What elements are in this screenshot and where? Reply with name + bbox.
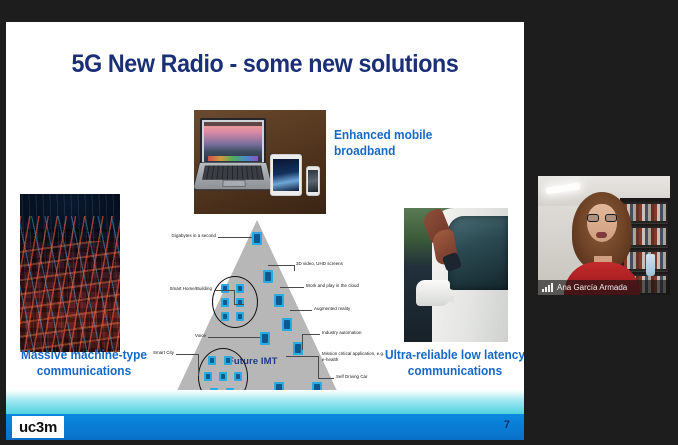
leader-line-gigabytes xyxy=(218,237,252,238)
leader-line-mission-critical-v xyxy=(318,356,319,378)
pyramid-label-augmented-reality: Augmented reality xyxy=(314,306,350,312)
smart-home-cluster-ring xyxy=(212,276,258,328)
icon-tile-city-2 xyxy=(224,356,232,365)
leader-line-3d-video xyxy=(268,265,294,266)
car-side-mirror xyxy=(416,280,450,306)
icon-tile-3d-video xyxy=(263,270,273,283)
icon-tile-city-4 xyxy=(219,372,227,381)
shelf-row-3 xyxy=(622,250,668,272)
page-title: 5G New Radio - some new solutions xyxy=(24,50,506,79)
signal-bars-icon xyxy=(542,283,553,292)
books-row-3 xyxy=(624,252,666,269)
leader-line-smart-city xyxy=(176,354,198,355)
icon-tile-gigabytes xyxy=(252,232,262,245)
laptop-base xyxy=(194,162,274,190)
laptop-menubar xyxy=(204,122,262,126)
laptop-dock xyxy=(208,156,258,161)
leader-line-industry-v xyxy=(302,334,303,350)
leader-line-3d-video-v xyxy=(294,265,295,271)
phone-wallpaper xyxy=(308,170,318,192)
city-night-photo xyxy=(20,194,120,352)
slide-number: 7 xyxy=(504,419,510,431)
leader-line-smart-home xyxy=(214,290,234,291)
future-imt-diagram: Future IMT xyxy=(146,220,396,418)
icon-tile-home-5 xyxy=(221,312,229,321)
icon-tile-cloud-work xyxy=(274,294,284,307)
car-photo xyxy=(404,208,508,342)
footer-bar: uc3m 7 xyxy=(6,414,524,440)
icon-tile-home-4 xyxy=(236,298,244,307)
caption-ultra-reliable-low-latency: Ultra-reliable low latency communication… xyxy=(384,348,524,379)
leader-line-voice xyxy=(208,337,260,338)
devices-photo xyxy=(194,110,326,214)
leader-line-industry xyxy=(302,334,320,335)
icon-tile-home-2 xyxy=(236,284,244,293)
pyramid-label-gigabytes: Gigabytes in a second xyxy=(146,233,216,239)
lens-left xyxy=(587,214,599,222)
leader-line-self-driving xyxy=(318,378,334,379)
icon-tile-augmented-reality xyxy=(282,318,292,331)
caption-massive-machine-type: Massive machine-type communications xyxy=(18,348,151,379)
leader-line-smart-city-v xyxy=(198,354,199,376)
lens-right xyxy=(605,214,617,222)
tablet-wallpaper xyxy=(273,159,299,191)
person-mouth xyxy=(596,232,607,238)
leader-line-smart-home-v xyxy=(234,290,235,304)
icon-tile-city-1 xyxy=(208,356,216,365)
pyramid-label-industry-automation: Industry automation xyxy=(322,330,362,336)
caption-enhanced-mobile-broadband: Enhanced mobile broadband xyxy=(334,128,486,159)
leader-line-ar xyxy=(290,310,312,311)
icon-tile-voice xyxy=(260,332,270,345)
presentation-slide: 5G New Radio - some new solutions xyxy=(6,22,524,440)
eyeglasses-icon xyxy=(587,214,617,222)
icon-tile-city-3 xyxy=(204,372,212,381)
screen-root: 5G New Radio - some new solutions xyxy=(0,0,678,445)
pyramid-label-smart-home: Smart Home/Building xyxy=(146,286,212,292)
laptop-keyboard xyxy=(202,165,264,179)
webcam-video-tile[interactable]: Ana García Armada xyxy=(538,176,670,295)
leader-line-cloud xyxy=(280,287,304,288)
participant-name-bar: Ana García Armada xyxy=(538,280,670,295)
footer-gradient-band xyxy=(6,390,524,414)
laptop-trackpad xyxy=(222,180,246,187)
phone-device xyxy=(306,166,320,196)
tablet-device xyxy=(270,154,302,196)
icon-tile-home-1 xyxy=(221,284,229,293)
icon-tile-city-5 xyxy=(234,372,242,381)
water-bottle xyxy=(646,254,655,276)
city-rain-streaks xyxy=(20,194,120,352)
pyramid-label-self-driving-car: Self Driving Car xyxy=(336,374,368,380)
pyramid-label-cloud: Work and play in the cloud xyxy=(306,283,359,289)
participant-name: Ana García Armada xyxy=(557,283,627,292)
leader-line-smart-home-h2 xyxy=(234,304,244,305)
pyramid-label-voice: Voice xyxy=(166,333,206,339)
icon-tile-home-6 xyxy=(236,312,244,321)
icon-tile-home-3 xyxy=(221,298,229,307)
pyramid-label-3d-video: 3D video, UHD screens xyxy=(296,261,343,267)
leader-line-mission-critical xyxy=(286,356,318,357)
pyramid-label-mission-critical: Mission critical application, e.g. e-hea… xyxy=(322,351,386,363)
uc3m-logo: uc3m xyxy=(12,416,64,438)
